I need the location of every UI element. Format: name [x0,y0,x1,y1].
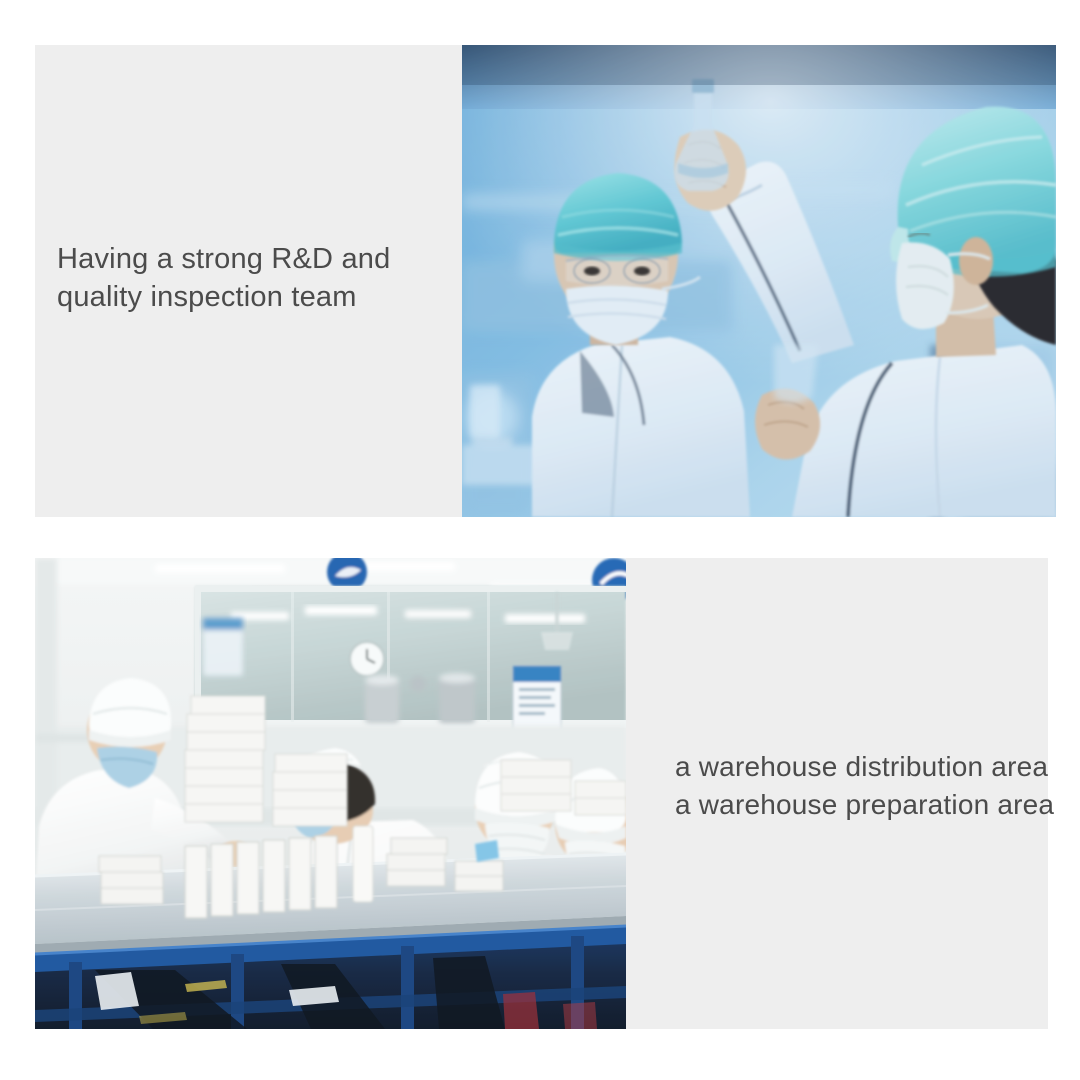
lab-inspection-photo [462,45,1056,517]
warehouse-packing-photo [35,558,626,1029]
top-section: Having a strong R&D and quality inspecti… [35,45,1056,517]
bottom-caption-panel: a warehouse distribution area a warehous… [626,558,1048,1029]
top-caption-panel: Having a strong R&D and quality inspecti… [35,45,462,517]
warehouse-packing-illustration [35,558,626,1029]
lab-inspection-illustration [462,45,1056,517]
bottom-caption-line-2: a warehouse preparation area [675,786,1080,824]
top-caption: Having a strong R&D and quality inspecti… [57,240,452,316]
top-caption-line-2: quality inspection team [57,278,452,316]
bottom-section: a warehouse distribution area a warehous… [35,558,1048,1029]
top-caption-line-1: Having a strong R&D and [57,240,452,278]
page-root: Having a strong R&D and quality inspecti… [0,0,1080,1080]
bottom-caption: a warehouse distribution area a warehous… [675,748,1080,824]
bottom-caption-line-1: a warehouse distribution area [675,748,1080,786]
